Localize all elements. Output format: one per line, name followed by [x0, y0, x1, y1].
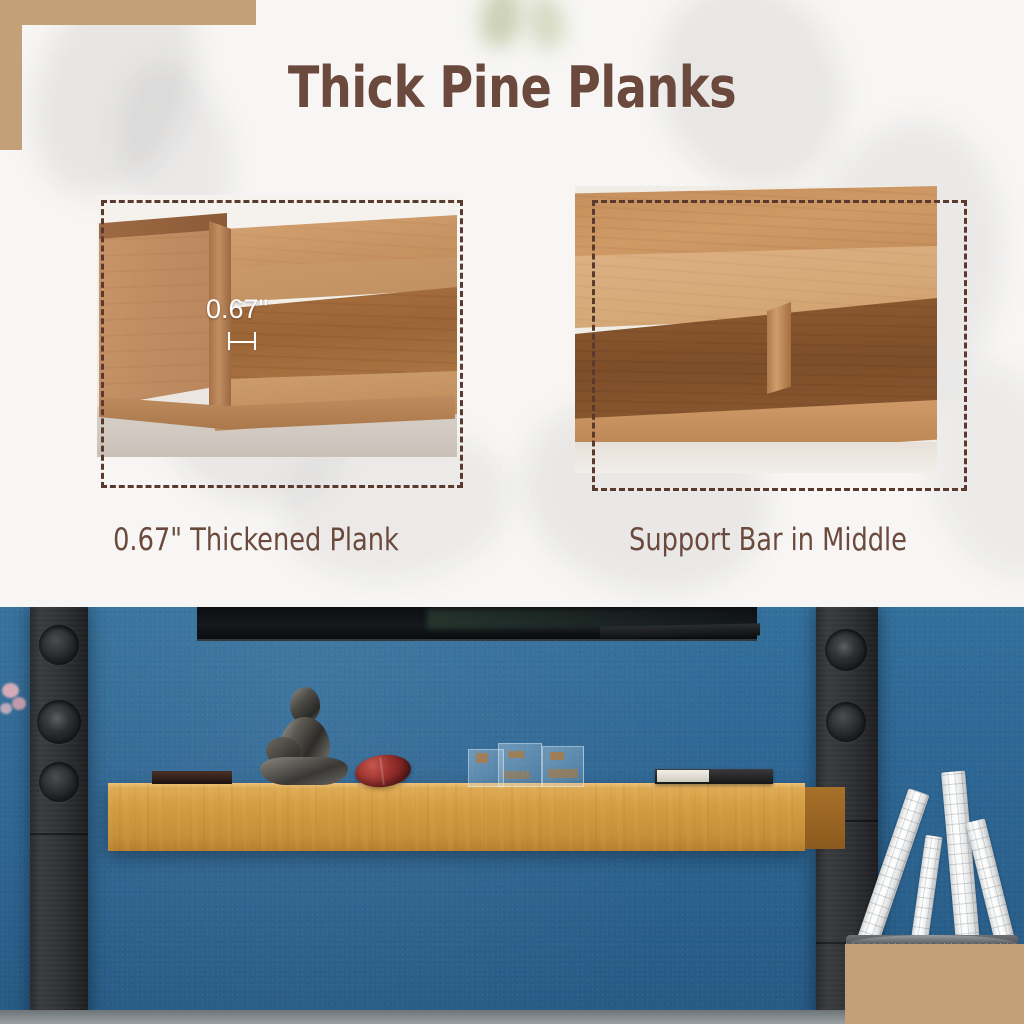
glass-inner-figure — [548, 769, 578, 778]
speaker-driver — [825, 629, 867, 671]
blossom-decor — [12, 697, 26, 710]
speaker-driver — [39, 762, 79, 802]
book-pages — [657, 770, 709, 782]
egg-seam — [379, 757, 384, 785]
blossom-decor — [0, 703, 12, 714]
speaker-driver — [826, 702, 866, 742]
feature-support-bar: Support Bar in Middle — [512, 0, 1024, 607]
speaker-driver — [39, 625, 79, 665]
glass-inner-figure — [550, 752, 564, 760]
glass-inner-figure — [476, 753, 488, 763]
speaker-driver — [37, 700, 81, 744]
glass-decoration — [468, 743, 590, 785]
corner-block-decor — [845, 944, 1024, 1024]
feature-thickened-plank: 0.67" 0.67" Thickened Plank — [0, 0, 512, 607]
blueprint-lines — [910, 835, 942, 948]
blueprint-rolls-basket — [832, 757, 1024, 957]
feature-panel: Thick Pine Planks — [0, 0, 1024, 607]
floating-shelf — [108, 783, 805, 851]
shelf-wood-grain — [108, 783, 805, 851]
speaker-seam — [30, 833, 88, 835]
glass-panel — [498, 743, 542, 787]
feature-dashed-outline — [592, 200, 967, 491]
infographic-page: Thick Pine Planks — [0, 0, 1024, 1024]
speaker-grain — [30, 607, 88, 1024]
book — [655, 769, 773, 784]
glass-inner-figure — [508, 751, 524, 758]
glass-inner-figure — [504, 771, 530, 779]
blueprint-roll — [910, 835, 942, 948]
feature-caption-thickened-plank: 0.67" Thickened Plank — [20, 522, 491, 558]
feature-caption-support-bar: Support Bar in Middle — [532, 522, 1003, 558]
tower-speaker-left — [30, 607, 88, 1024]
statue-lap — [260, 757, 348, 785]
blossom-decor — [2, 683, 19, 698]
feature-dashed-outline — [101, 200, 463, 488]
buddha-statue — [256, 687, 352, 785]
book — [152, 771, 232, 784]
